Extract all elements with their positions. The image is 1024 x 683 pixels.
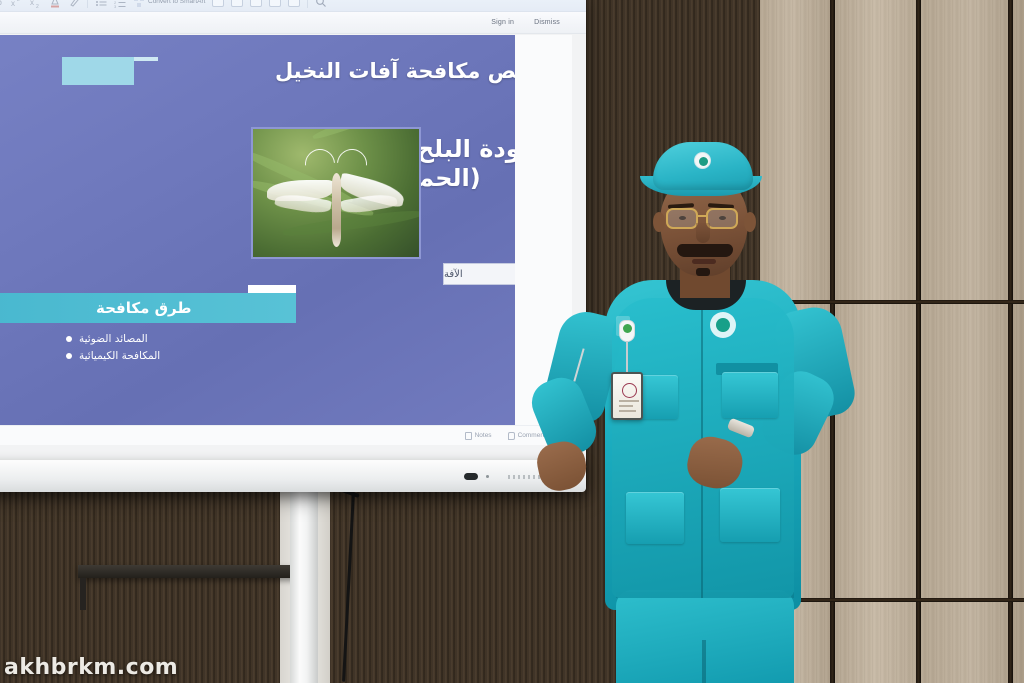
watermark: akhbrkm.com bbox=[4, 655, 178, 680]
presenter bbox=[520, 120, 870, 683]
retractable-badge-reel bbox=[619, 320, 635, 342]
trouser-seam bbox=[702, 640, 706, 683]
vest-pocket bbox=[720, 488, 780, 542]
status-led-icon bbox=[486, 475, 489, 478]
bullet-text: المصائد الضوئية bbox=[79, 333, 148, 345]
status-bar[interactable]: Notes Comments bbox=[0, 425, 571, 445]
scene: Ab x2 x2 123 bbox=[0, 0, 1024, 683]
wall-panel-groove bbox=[1008, 0, 1013, 683]
eyeglasses-lens bbox=[706, 208, 738, 229]
title-accent-chip bbox=[62, 57, 134, 85]
convert-to-smartart-button[interactable]: Convert to SmartArt bbox=[133, 0, 205, 8]
id-card-badge bbox=[611, 372, 643, 420]
id-card-line bbox=[619, 410, 636, 412]
slide-title: ملخص مكافحة آفات النخيل bbox=[275, 59, 553, 83]
presenter-mouth bbox=[692, 259, 716, 264]
notes-button[interactable]: Notes bbox=[465, 432, 492, 440]
svg-text:3: 3 bbox=[114, 4, 117, 8]
svg-text:2: 2 bbox=[17, 0, 20, 3]
presenter-ear bbox=[653, 212, 665, 232]
presenter-soul-patch bbox=[696, 268, 710, 276]
dismiss-button[interactable]: Dismiss bbox=[534, 19, 560, 26]
svg-text:2: 2 bbox=[36, 4, 39, 8]
methods-title-bar: طرق مكافحة bbox=[0, 293, 296, 323]
bulleted-list-icon[interactable] bbox=[95, 0, 107, 8]
decrease-indent-icon[interactable] bbox=[250, 0, 262, 7]
notes-label: Notes bbox=[475, 432, 492, 439]
presenter-ear bbox=[744, 212, 756, 232]
eyeglasses-lens bbox=[666, 208, 698, 229]
powerpoint-toolbar[interactable]: Ab x2 x2 123 bbox=[0, 0, 586, 12]
presenter-mustache bbox=[677, 244, 733, 257]
methods-title: طرق مكافحة bbox=[96, 299, 191, 317]
bullet-dot-icon bbox=[66, 336, 72, 342]
palm-frond bbox=[311, 127, 417, 142]
font-color-icon[interactable] bbox=[49, 0, 61, 8]
svg-text:x: x bbox=[11, 0, 15, 8]
display-bottom-bezel bbox=[0, 460, 586, 492]
font-size-icon[interactable]: Ab bbox=[0, 0, 4, 8]
wall-mounted-shelf bbox=[78, 565, 313, 578]
vest-pocket bbox=[626, 492, 684, 544]
id-card-line bbox=[619, 400, 639, 402]
bullet-text: المكافحة الكيميائية bbox=[79, 350, 160, 362]
lesser-date-moth-photo bbox=[251, 127, 421, 259]
methods-bullet-list: المصائد الضوئية المكافحة الكيميائية bbox=[66, 333, 296, 367]
bullet-dot-icon bbox=[66, 353, 72, 359]
convert-to-smartart-label: Convert to SmartArt bbox=[148, 0, 205, 5]
list-item: المكافحة الكيميائية bbox=[66, 350, 296, 362]
svg-text:Ab: Ab bbox=[0, 0, 2, 7]
notes-icon bbox=[465, 432, 472, 440]
display-floor-stand bbox=[290, 490, 318, 683]
presentation-slide[interactable]: ملخص مكافحة آفات النخيل دودة البلح الصغر… bbox=[0, 35, 571, 425]
subscript-icon[interactable]: x2 bbox=[30, 0, 42, 8]
text-highlight-icon[interactable] bbox=[68, 0, 80, 8]
shelf-bracket bbox=[80, 578, 86, 610]
line-spacing-icon[interactable] bbox=[288, 0, 300, 7]
interactive-display[interactable]: Ab x2 x2 123 bbox=[0, 0, 586, 492]
svg-text:x: x bbox=[30, 0, 34, 7]
id-card-line bbox=[619, 405, 633, 407]
presenter-nose bbox=[696, 223, 710, 243]
increase-indent-icon[interactable] bbox=[269, 0, 281, 7]
toolbar-separator bbox=[307, 0, 308, 8]
comment-bubble-icon bbox=[508, 432, 515, 440]
eyeglasses-bridge bbox=[698, 215, 706, 217]
sign-in-button[interactable]: Sign in bbox=[491, 19, 514, 26]
align-text-left-icon[interactable] bbox=[212, 0, 224, 7]
list-item: المصائد الضوئية bbox=[66, 333, 296, 345]
toolbar-separator bbox=[87, 0, 88, 8]
align-text-right-icon[interactable] bbox=[231, 0, 243, 7]
organization-emblem-icon bbox=[710, 312, 736, 338]
pest-label: الآفة bbox=[444, 269, 463, 280]
vest-pocket bbox=[722, 372, 778, 418]
wall-panel-groove bbox=[916, 0, 921, 683]
account-bar[interactable]: Sign in Dismiss bbox=[0, 12, 586, 34]
webcam-icon bbox=[464, 473, 478, 480]
moth-body bbox=[332, 173, 341, 247]
superscript-icon[interactable]: x2 bbox=[11, 0, 23, 8]
organization-emblem-icon bbox=[694, 152, 711, 169]
smartart-icon bbox=[133, 0, 145, 8]
search-icon[interactable] bbox=[315, 0, 327, 8]
numbered-list-icon[interactable]: 123 bbox=[114, 0, 126, 8]
